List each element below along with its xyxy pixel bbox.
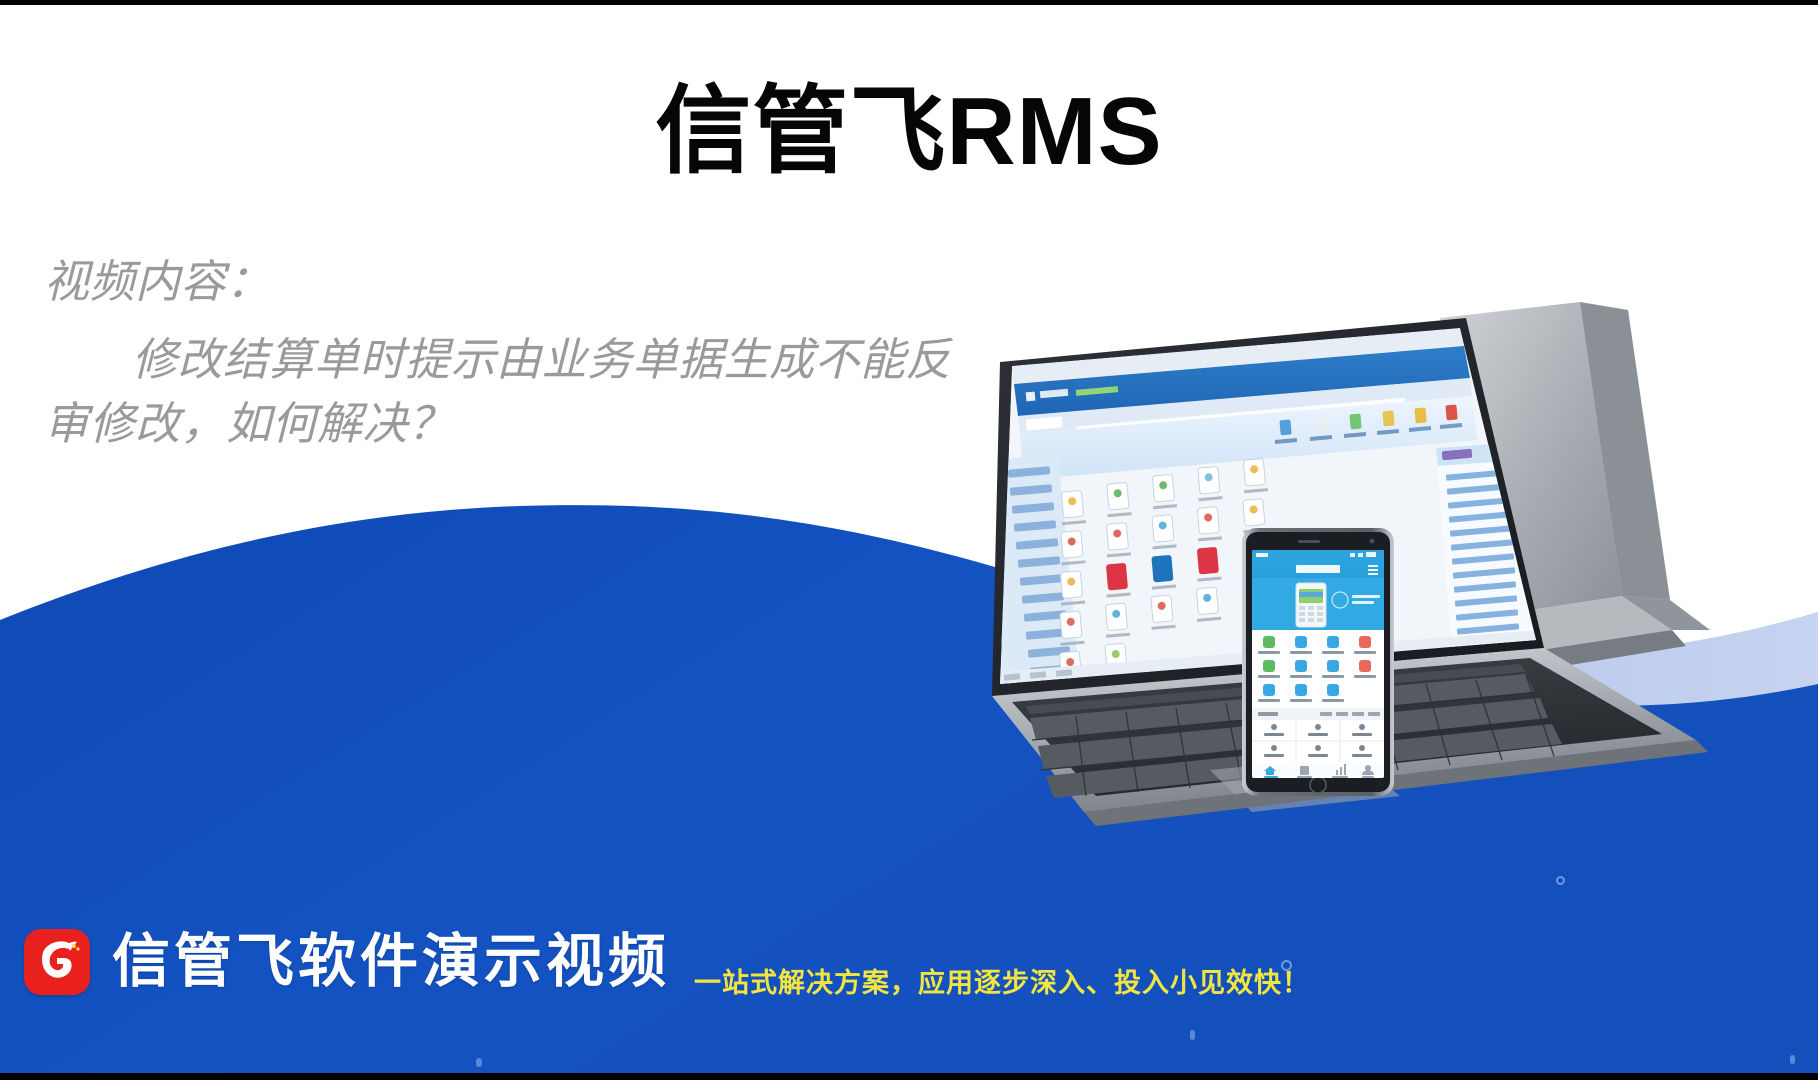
slide-title: 信管飞RMS [0, 78, 1818, 186]
decorative-dot-5 [1556, 876, 1565, 885]
phone-mockup [1242, 528, 1394, 796]
brand-name-label: 信管飞软件演示视频 [112, 933, 670, 991]
letterbox-bar-top [0, 0, 1818, 5]
slide-body-copy: 视频内容： 修改结算单时提示由业务单据生成不能反审修改，如何解决？ [44, 250, 964, 456]
device-mockup-group [880, 300, 1818, 860]
decorative-dot-4 [1790, 1055, 1795, 1064]
body-lead-label: 视频内容： [44, 250, 964, 314]
hamburger-menu-icon [1368, 565, 1378, 575]
footer-brand-bar: 信管飞软件演示视频 一站式解决方案，应用逐步深入、投入小见效快！ [24, 918, 1310, 1006]
body-paragraph: 修改结算单时提示由业务单据生成不能反审修改，如何解决？ [44, 328, 964, 456]
brand-bird-logo-icon [24, 929, 90, 995]
letterbox-bar-bottom [0, 1073, 1818, 1080]
decorative-dot-2 [476, 1058, 482, 1067]
brand-tagline: 一站式解决方案，应用逐步深入、投入小见效快！ [694, 961, 1310, 1000]
decorative-dot-3 [1190, 1030, 1195, 1040]
presentation-slide: 信管飞RMS 视频内容： 修改结算单时提示由业务单据生成不能反审修改，如何解决？ [0, 0, 1818, 1080]
phone-screen-content [1252, 550, 1384, 778]
